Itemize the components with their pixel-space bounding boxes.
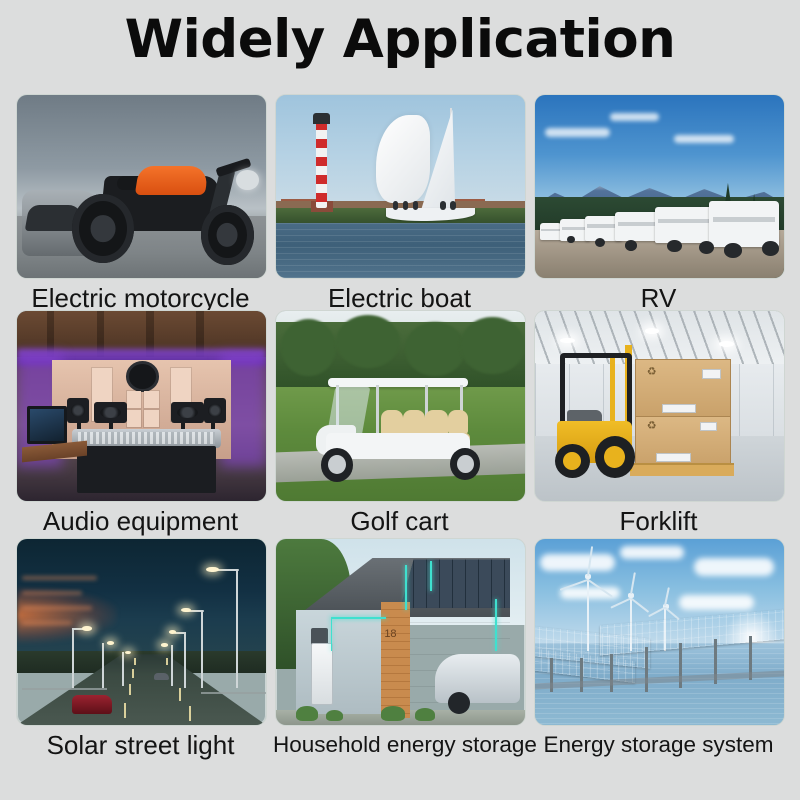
- thumbnail-household-energy-storage[interactable]: 18: [275, 538, 526, 726]
- thumbnail-energy-storage-system[interactable]: [534, 538, 785, 726]
- caption-audio-equipment: Audio equipment: [14, 506, 267, 536]
- illustration-electric-motorcycle: [17, 95, 266, 278]
- caption-solar-street-light: Solar street light: [14, 730, 267, 760]
- thumbnail-rv[interactable]: [534, 94, 785, 279]
- thumbnail-audio-equipment[interactable]: [16, 310, 267, 502]
- grid-cell-rv[interactable]: RV: [532, 92, 785, 308]
- grid-cell-household-energy-storage[interactable]: 18 Household energy storage: [273, 536, 526, 762]
- grid-cell-golf-cart[interactable]: Golf cart: [273, 308, 526, 536]
- caption-household-energy-storage: Household energy storage: [273, 730, 526, 760]
- illustration-household-energy-storage: 18: [276, 539, 525, 725]
- application-showcase-page: Widely Application Electric motorcycl: [0, 0, 800, 800]
- caption-forklift: Forklift: [532, 506, 785, 536]
- caption-energy-storage-system: Energy storage system: [532, 730, 785, 760]
- illustration-electric-boat: [276, 95, 525, 278]
- illustration-forklift: ♻ ♻: [535, 311, 784, 501]
- illustration-solar-street-light: [17, 539, 266, 725]
- caption-golf-cart: Golf cart: [273, 506, 526, 536]
- grid-cell-solar-street-light[interactable]: Solar street light: [14, 536, 267, 762]
- grid-cell-forklift[interactable]: ♻ ♻: [532, 308, 785, 536]
- page-title: Widely Application: [0, 8, 800, 72]
- thumbnail-solar-street-light[interactable]: [16, 538, 267, 726]
- illustration-audio-equipment: [17, 311, 266, 501]
- thumbnail-electric-boat[interactable]: [275, 94, 526, 279]
- illustration-golf-cart: [276, 311, 525, 501]
- application-grid: Electric motorcycle: [14, 92, 786, 762]
- thumbnail-golf-cart[interactable]: [275, 310, 526, 502]
- illustration-rv: [535, 95, 784, 278]
- grid-cell-audio-equipment[interactable]: Audio equipment: [14, 308, 267, 536]
- grid-cell-electric-boat[interactable]: Electric boat: [273, 92, 526, 308]
- thumbnail-forklift[interactable]: ♻ ♻: [534, 310, 785, 502]
- thumbnail-electric-motorcycle[interactable]: [16, 94, 267, 279]
- house-number: 18: [384, 628, 396, 640]
- grid-cell-energy-storage-system[interactable]: Energy storage system: [532, 536, 785, 762]
- grid-cell-electric-motorcycle[interactable]: Electric motorcycle: [14, 92, 267, 308]
- illustration-energy-storage-system: [535, 539, 784, 725]
